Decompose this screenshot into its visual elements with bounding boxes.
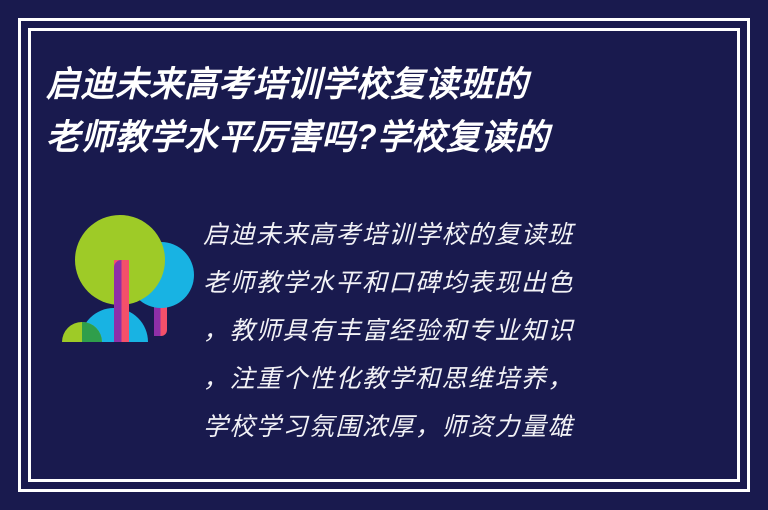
ground-line (62, 342, 194, 345)
tree-illustration (62, 214, 194, 354)
page-title: 启迪未来高考培训学校复读班的 老师教学水平厉害吗?学校复读的 (46, 58, 706, 164)
body-line-2: 老师教学水平和口碑均表现出色 (203, 260, 681, 308)
page-title-line-1: 启迪未来高考培训学校复读班的 (46, 58, 686, 111)
body-paragraph: 启迪未来高考培训学校的复读班 老师教学水平和口碑均表现出色 ，教师具有丰富经验和… (203, 212, 681, 452)
body-line-3: ，教师具有丰富经验和专业知识 (203, 308, 681, 356)
poster-canvas: 启迪未来高考培训学校复读班的 老师教学水平厉害吗?学校复读的 启迪未来高考培训学… (0, 0, 768, 510)
body-line-4: ，注重个性化教学和思维培养， (203, 356, 681, 404)
page-title-line-2: 老师教学水平厉害吗?学校复读的 (46, 111, 686, 164)
left-tree-trunk-purple (114, 260, 122, 342)
body-line-1: 启迪未来高考培训学校的复读班 (203, 212, 681, 260)
body-line-5: 学校学习氛围浓厚，师资力量雄 (203, 404, 681, 452)
